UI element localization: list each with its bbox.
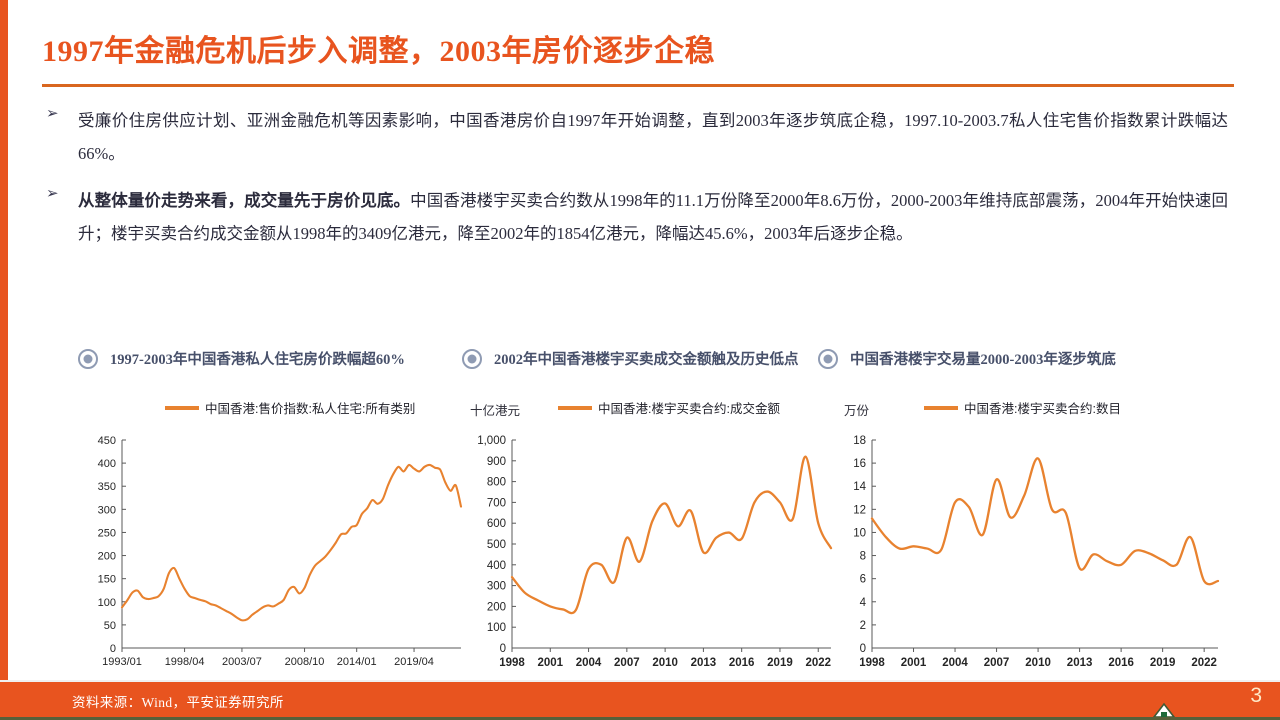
svg-text:4: 4 — [860, 597, 867, 609]
svg-text:10: 10 — [853, 527, 866, 539]
bullseye-icon — [78, 349, 98, 369]
legend-swatch-icon — [558, 406, 592, 410]
source-note: 资料来源：Wind，平安证券研究所 — [72, 691, 284, 711]
svg-text:14: 14 — [853, 481, 866, 493]
company-logo-icon — [1152, 702, 1186, 718]
chart-legend: 中国香港:楼宇买卖合约:成交金额 — [558, 398, 780, 417]
svg-text:2022: 2022 — [805, 657, 831, 669]
svg-text:400: 400 — [98, 458, 116, 470]
svg-text:2014/01: 2014/01 — [337, 656, 377, 668]
chart-header-label: 中国香港楼宇交易量2000-2003年逐步筑底 — [850, 348, 1116, 369]
chart-private-housing-price-index: 中国香港:售价指数:私人住宅:所有类别 05010015020025030035… — [70, 392, 465, 682]
svg-text:450: 450 — [98, 435, 116, 447]
line-chart-svg: 0501001502002503003504004501993/011998/0… — [70, 432, 465, 682]
chart-header-label: 1997-2003年中国香港私人住宅房价跌幅超60% — [110, 348, 405, 369]
page-title: 1997年金融危机后步入调整，2003年房价逐步企稳 — [42, 36, 1232, 68]
svg-text:2016: 2016 — [729, 657, 755, 669]
svg-text:2010: 2010 — [1025, 657, 1051, 669]
chart-legend: 中国香港:楼宇买卖合约:数目 — [924, 398, 1121, 417]
svg-text:2010: 2010 — [652, 657, 678, 669]
svg-text:300: 300 — [98, 504, 116, 516]
slide-root: 1997年金融危机后步入调整，2003年房价逐步企稳 ➢ 受廉价住房供应计划、亚… — [0, 0, 1280, 720]
chart-transaction-count: 万份 中国香港:楼宇买卖合约:数目 0246810121416181998200… — [836, 392, 1226, 682]
chart-unit-label: 十亿港元 — [470, 400, 520, 419]
plot-area: 0501001502002503003504004501993/011998/0… — [70, 432, 465, 682]
bullet-list: ➢ 受廉价住房供应计划、亚洲金融危机等因素影响，中国香港房价自1997年开始调整… — [38, 104, 1238, 264]
legend-swatch-icon — [924, 406, 958, 410]
svg-text:2008/10: 2008/10 — [285, 656, 325, 668]
svg-text:700: 700 — [487, 497, 506, 509]
chart-header-row: 1997-2003年中国香港私人住宅房价跌幅超60% 2002年中国香港楼宇买卖… — [0, 348, 1280, 378]
svg-text:2019: 2019 — [1150, 657, 1176, 669]
svg-text:2016: 2016 — [1108, 657, 1134, 669]
svg-text:350: 350 — [98, 481, 116, 493]
svg-text:900: 900 — [487, 456, 506, 468]
bullet-text: 从整体量价走势来看，成交量先于房价见底。中国香港楼宇买卖合约数从1998年的11… — [78, 184, 1228, 250]
svg-text:1998/04: 1998/04 — [165, 656, 205, 668]
bullet-marker-icon: ➢ — [46, 107, 59, 122]
svg-text:600: 600 — [487, 518, 506, 530]
line-chart-svg: 01002003004005006007008009001,0001998200… — [462, 432, 837, 682]
chart-header-label: 2002年中国香港楼宇买卖成交金额触及历史低点 — [494, 348, 799, 369]
svg-text:18: 18 — [853, 435, 866, 447]
chart-unit-label: 万份 — [844, 400, 869, 419]
svg-text:2013: 2013 — [691, 657, 717, 669]
svg-text:800: 800 — [487, 477, 506, 489]
svg-text:0: 0 — [110, 643, 116, 655]
line-chart-svg: 0246810121416181998200120042007201020132… — [836, 432, 1226, 682]
svg-text:6: 6 — [860, 574, 866, 586]
svg-text:0: 0 — [860, 643, 866, 655]
svg-text:2007: 2007 — [614, 657, 640, 669]
svg-text:1,000: 1,000 — [477, 435, 506, 447]
svg-text:200: 200 — [487, 601, 506, 613]
svg-text:2: 2 — [860, 620, 866, 632]
svg-text:200: 200 — [98, 551, 116, 563]
svg-text:2001: 2001 — [901, 657, 927, 669]
bullseye-icon — [462, 349, 482, 369]
svg-text:12: 12 — [853, 504, 866, 516]
svg-text:2001: 2001 — [537, 657, 563, 669]
page-number: 3 — [1250, 684, 1262, 708]
svg-text:300: 300 — [487, 581, 506, 593]
svg-text:1998: 1998 — [859, 657, 885, 669]
legend-label: 中国香港:售价指数:私人住宅:所有类别 — [205, 398, 415, 417]
legend-label: 中国香港:楼宇买卖合约:成交金额 — [598, 398, 780, 417]
chart-transaction-value: 十亿港元 中国香港:楼宇买卖合约:成交金额 010020030040050060… — [462, 392, 837, 682]
bullet-lead-text: 从整体量价走势来看，成交量先于房价见底。 — [78, 191, 410, 210]
svg-text:8: 8 — [860, 551, 866, 563]
svg-text:2004: 2004 — [942, 657, 968, 669]
legend-label: 中国香港:楼宇买卖合约:数目 — [964, 398, 1121, 417]
svg-text:2003/07: 2003/07 — [222, 656, 262, 668]
plot-area: 01002003004005006007008009001,0001998200… — [462, 432, 837, 682]
svg-text:2004: 2004 — [576, 657, 602, 669]
svg-text:100: 100 — [98, 597, 116, 609]
bullseye-icon — [818, 349, 838, 369]
bullet-text: 受廉价住房供应计划、亚洲金融危机等因素影响，中国香港房价自1997年开始调整，直… — [78, 104, 1228, 170]
svg-text:2019/04: 2019/04 — [394, 656, 434, 668]
plot-area: 0246810121416181998200120042007201020132… — [836, 432, 1226, 682]
footer-bar: 资料来源：Wind，平安证券研究所 3 — [0, 680, 1280, 720]
legend-swatch-icon — [165, 406, 199, 410]
svg-text:2019: 2019 — [767, 657, 793, 669]
bullet-item: ➢ 受廉价住房供应计划、亚洲金融危机等因素影响，中国香港房价自1997年开始调整… — [38, 104, 1228, 170]
chart-legend: 中国香港:售价指数:私人住宅:所有类别 — [165, 398, 415, 417]
svg-text:400: 400 — [487, 560, 506, 572]
footer-top-rule — [0, 680, 1280, 682]
svg-text:2007: 2007 — [984, 657, 1010, 669]
svg-text:2022: 2022 — [1191, 657, 1217, 669]
chart-header-1: 1997-2003年中国香港私人住宅房价跌幅超60% — [78, 348, 405, 369]
bullet-marker-icon: ➢ — [46, 187, 59, 202]
svg-text:250: 250 — [98, 527, 116, 539]
page-title-container: 1997年金融危机后步入调整，2003年房价逐步企稳 — [42, 36, 1232, 68]
svg-text:1998: 1998 — [499, 657, 525, 669]
svg-text:50: 50 — [104, 620, 116, 632]
svg-text:2013: 2013 — [1067, 657, 1093, 669]
svg-text:16: 16 — [853, 458, 866, 470]
svg-text:0: 0 — [500, 643, 506, 655]
bullet-item: ➢ 从整体量价走势来看，成交量先于房价见底。中国香港楼宇买卖合约数从1998年的… — [38, 184, 1228, 250]
svg-text:500: 500 — [487, 539, 506, 551]
svg-text:100: 100 — [487, 622, 506, 634]
chart-header-2: 2002年中国香港楼宇买卖成交金额触及历史低点 — [462, 348, 799, 369]
svg-text:1993/01: 1993/01 — [102, 656, 142, 668]
svg-text:150: 150 — [98, 574, 116, 586]
title-underline — [42, 84, 1234, 87]
chart-header-3: 中国香港楼宇交易量2000-2003年逐步筑底 — [818, 348, 1116, 369]
